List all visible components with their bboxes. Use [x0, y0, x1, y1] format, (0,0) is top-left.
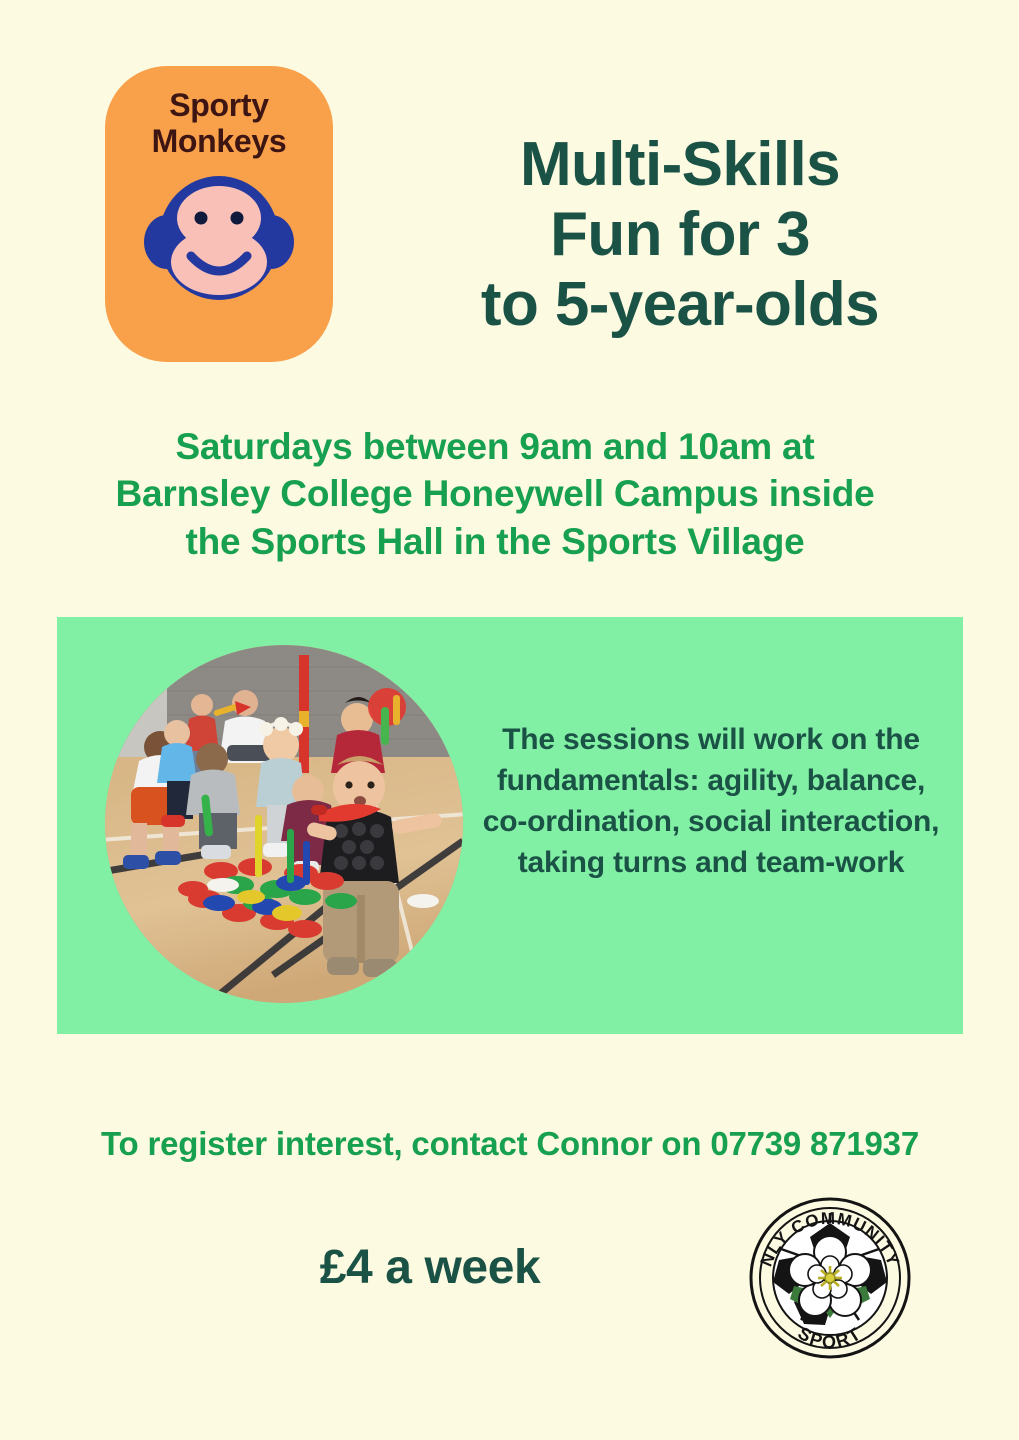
price-text: £4 a week — [180, 1240, 680, 1295]
feature-panel: The sessions will work on the fundamenta… — [57, 617, 963, 1034]
nly-community-sport-logo: NLY COMMUNITY SPORT — [748, 1196, 912, 1360]
poster-header: Sporty Monkeys — [0, 0, 1019, 380]
session-focus-text: The sessions will work on the fundamenta… — [472, 719, 950, 883]
session-photo — [105, 645, 463, 1003]
session-details-text: Saturdays between 9am and 10am at Barnsl… — [95, 423, 895, 565]
poster-root: Sporty Monkeys — [0, 0, 1019, 1440]
monkey-face-icon — [143, 174, 295, 306]
brand-name: Sporty Monkeys — [152, 88, 287, 160]
contact-text: To register interest, contact Connor on … — [80, 1123, 940, 1166]
brand-badge: Sporty Monkeys — [105, 66, 333, 362]
page-title: Multi-Skills Fun for 3 to 5-year-olds — [360, 130, 1000, 340]
